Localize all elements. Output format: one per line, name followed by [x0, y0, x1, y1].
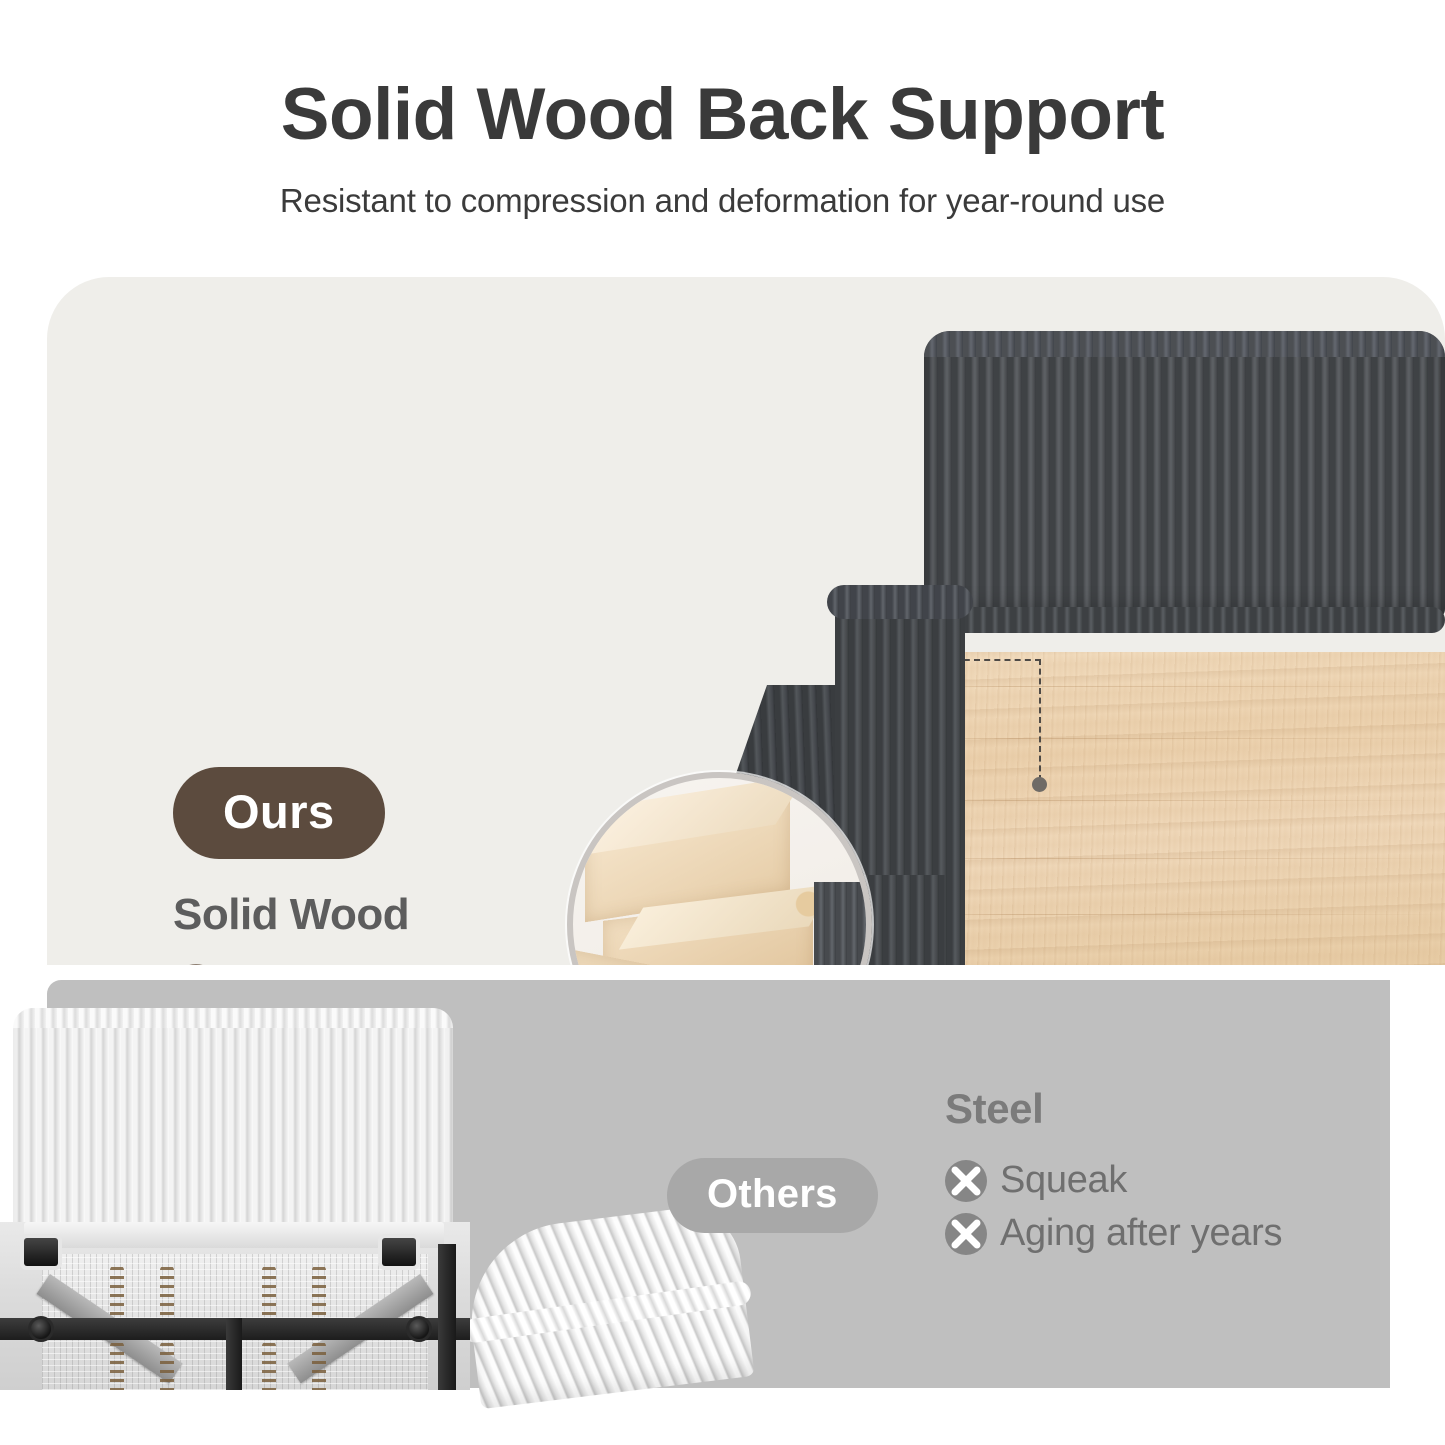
frame-right-post	[438, 1244, 456, 1390]
others-badge: Others	[667, 1158, 878, 1233]
callout-dot-icon	[1032, 777, 1047, 792]
sofa-edge-overlap	[814, 882, 866, 965]
steel-spring-frame-image	[0, 1222, 470, 1390]
ours-panel: Ours Solid Wood Squeak free	[47, 277, 1445, 965]
frame-bracket	[24, 1238, 58, 1266]
frame-bracket	[382, 1238, 416, 1266]
page-title: Solid Wood Back Support	[0, 0, 1445, 151]
header: Solid Wood Back Support Resistant to com…	[0, 0, 1445, 220]
others-feature-list: Squeak Aging after years	[945, 1159, 1365, 1255]
x-circle-icon	[945, 1213, 987, 1255]
others-material-title: Steel	[945, 1085, 1365, 1133]
others-feature-item: Squeak	[945, 1159, 1365, 1202]
others-feature-item: Aging after years	[945, 1212, 1365, 1255]
ours-info-block: Ours Solid Wood Squeak free	[173, 767, 533, 965]
infographic-root: Solid Wood Back Support Resistant to com…	[0, 0, 1445, 1445]
frame-rivet-icon	[406, 1316, 432, 1342]
ours-material-title: Solid Wood	[173, 890, 533, 940]
ours-feature-list: Squeak free Durable	[173, 964, 533, 965]
ours-badge: Ours	[173, 767, 385, 859]
page-subtitle: Resistant to compression and deformation…	[0, 151, 1445, 220]
sofa-armrest-top-piping	[827, 585, 973, 619]
others-feature-label: Squeak	[1000, 1159, 1127, 1202]
check-circle-icon	[173, 964, 219, 965]
sofa-back-piping	[915, 607, 1445, 633]
others-feature-label: Aging after years	[1000, 1212, 1282, 1255]
frame-rivet-icon	[28, 1316, 54, 1342]
others-info-block: Steel Squeak Aging after years	[945, 1085, 1365, 1265]
ours-feature-item: Squeak free	[173, 964, 533, 965]
frame-center-post	[226, 1318, 242, 1390]
sofa-back-cushion	[924, 331, 1445, 619]
x-circle-icon	[945, 1160, 987, 1202]
frame-top-rail	[24, 1222, 444, 1248]
others-sofa-back-cushion	[13, 1008, 453, 1248]
